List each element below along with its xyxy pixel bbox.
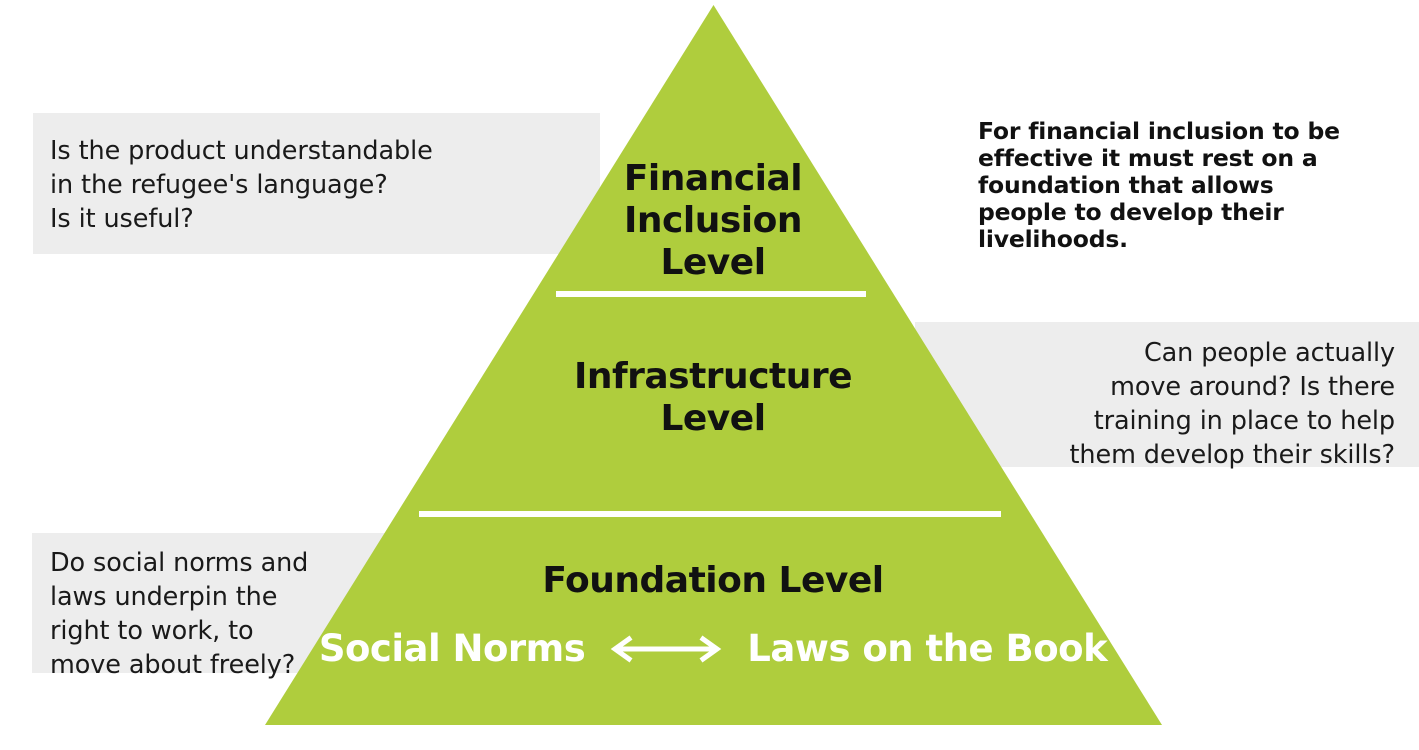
callout-text-top-right: For financial inclusion to be effective …: [978, 118, 1358, 253]
tier-label-infrastructure: Infrastructure Level: [493, 356, 933, 440]
foundation-sublabel-row: Social Norms Laws on the Book: [330, 627, 1096, 671]
callout-text-mid-right: Can people actually move around? Is ther…: [1000, 336, 1395, 472]
tier-label-foundation: Foundation Level: [413, 560, 1013, 602]
tier-label-financial-inclusion: Financial Inclusion Level: [553, 158, 873, 284]
foundation-sublabel-laws-on-the-book: Laws on the Book: [747, 627, 1107, 671]
callout-text-top-left: Is the product understandable in the ref…: [50, 134, 470, 236]
double-headed-arrow-icon: [607, 634, 725, 664]
diagram-canvas: Is the product understandable in the ref…: [0, 0, 1419, 750]
foundation-sublabel-social-norms: Social Norms: [319, 627, 585, 671]
pyramid-divider-lower: [419, 511, 1001, 517]
callout-text-bottom-left: Do social norms and laws underpin the ri…: [50, 546, 350, 682]
pyramid-divider-upper: [556, 291, 866, 297]
